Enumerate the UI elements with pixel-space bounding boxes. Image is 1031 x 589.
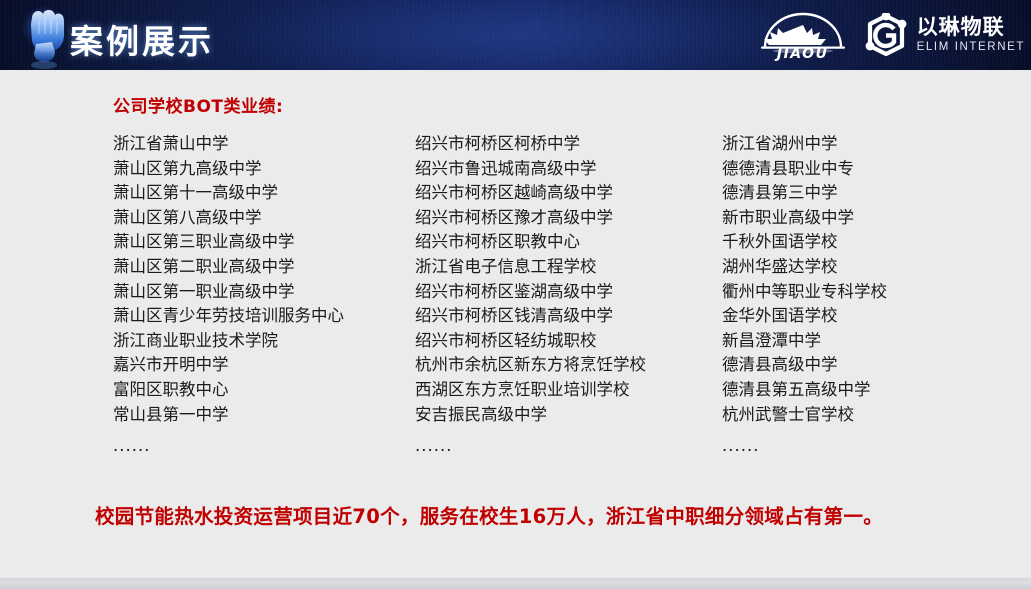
raised-fist-glyph [12, 2, 76, 70]
elim-logo: 以琳物联 ELIM INTERNET [863, 13, 1025, 57]
list-item: 绍兴市柯桥区柯桥中学 [415, 132, 646, 157]
list-item: 萧山区第一职业高级中学 [113, 280, 344, 305]
list-item: 浙江省电子信息工程学校 [415, 255, 646, 280]
list-item: 新昌澄潭中学 [722, 329, 887, 354]
list-item: 金华外国语学校 [722, 304, 887, 329]
list-item: 绍兴市柯桥区越崎高级中学 [415, 181, 646, 206]
list-item: 萧山区第二职业高级中学 [113, 255, 344, 280]
list-item: 常山县第一中学 [113, 403, 344, 428]
section-title: 公司学校BOT类业绩: [113, 92, 283, 117]
elim-g-logo-icon [863, 13, 909, 57]
list-item: 萧山区第三职业高级中学 [113, 230, 344, 255]
list-item: 萧山区第八高级中学 [113, 206, 344, 231]
list-item: 西湖区东方烹饪职业培训学校 [415, 378, 646, 403]
list-item: 德清县高级中学 [722, 353, 887, 378]
list-item: 杭州武警士官学校 [722, 403, 887, 428]
raised-fist-icon [12, 2, 76, 70]
list-item: 嘉兴市开明中学 [113, 353, 344, 378]
slide: 案例展示 JIAOU [0, 0, 1031, 578]
list-item: 萧山区第九高级中学 [113, 157, 344, 182]
elim-wordmark: 以琳物联 ELIM INTERNET [917, 17, 1025, 54]
summary-note: 校园节能热水投资运营项目近70个，服务在校生16万人，浙江省中职细分领域占有第一… [95, 500, 883, 529]
list-item: 绍兴市鲁迅城南高级中学 [415, 157, 646, 182]
list-item: 德清县第三中学 [722, 181, 887, 206]
jiaou-wordmark: JIAOU [757, 46, 849, 62]
list-item: 绍兴市柯桥区钱清高级中学 [415, 304, 646, 329]
ellipsis-row: ······ [415, 439, 646, 464]
page-title: 案例展示 [70, 15, 214, 63]
school-column-2: 绍兴市柯桥区柯桥中学 绍兴市鲁迅城南高级中学 绍兴市柯桥区越崎高级中学 绍兴市柯… [415, 132, 646, 464]
list-item: 富阳区职教中心 [113, 378, 344, 403]
list-item: 德德清县职业中专 [722, 157, 887, 182]
list-item: 绍兴市柯桥区职教中心 [415, 230, 646, 255]
slide-bottom-shadow [0, 578, 1031, 589]
list-item: 衢州中等职业专科学校 [722, 280, 887, 305]
ellipsis-row: ······ [722, 439, 887, 464]
jiaou-logo: JIAOU [757, 9, 849, 61]
list-item: 绍兴市柯桥区鉴湖高级中学 [415, 280, 646, 305]
list-item: 安吉振民高级中学 [415, 403, 646, 428]
list-item: 浙江商业职业技术学院 [113, 329, 344, 354]
list-item: 湖州华盛达学校 [722, 255, 887, 280]
ellipsis-row: ······ [113, 439, 344, 464]
elim-name-en: ELIM INTERNET [917, 42, 1025, 54]
school-column-1: 浙江省萧山中学 萧山区第九高级中学 萧山区第十一高级中学 萧山区第八高级中学 萧… [113, 132, 344, 464]
list-item: 绍兴市柯桥区轻纺城职校 [415, 329, 646, 354]
slide-header: 案例展示 JIAOU [0, 0, 1031, 70]
school-column-3: 浙江省湖州中学 德德清县职业中专 德清县第三中学 新市职业高级中学 千秋外国语学… [722, 132, 887, 464]
list-item: 萧山区第十一高级中学 [113, 181, 344, 206]
school-columns: 浙江省萧山中学 萧山区第九高级中学 萧山区第十一高级中学 萧山区第八高级中学 萧… [0, 132, 1031, 462]
list-item: 千秋外国语学校 [722, 230, 887, 255]
list-item: 萧山区青少年劳技培训服务中心 [113, 304, 344, 329]
header-logos: JIAOU 以琳物联 ELIM INTERNET [757, 8, 1025, 62]
list-item: 浙江省萧山中学 [113, 132, 344, 157]
list-item: 杭州市余杭区新东方将烹饪学校 [415, 353, 646, 378]
list-item: 德清县第五高级中学 [722, 378, 887, 403]
list-item: 浙江省湖州中学 [722, 132, 887, 157]
list-item: 绍兴市柯桥区豫才高级中学 [415, 206, 646, 231]
list-item: 新市职业高级中学 [722, 206, 887, 231]
elim-name-cn: 以琳物联 [917, 17, 1025, 38]
